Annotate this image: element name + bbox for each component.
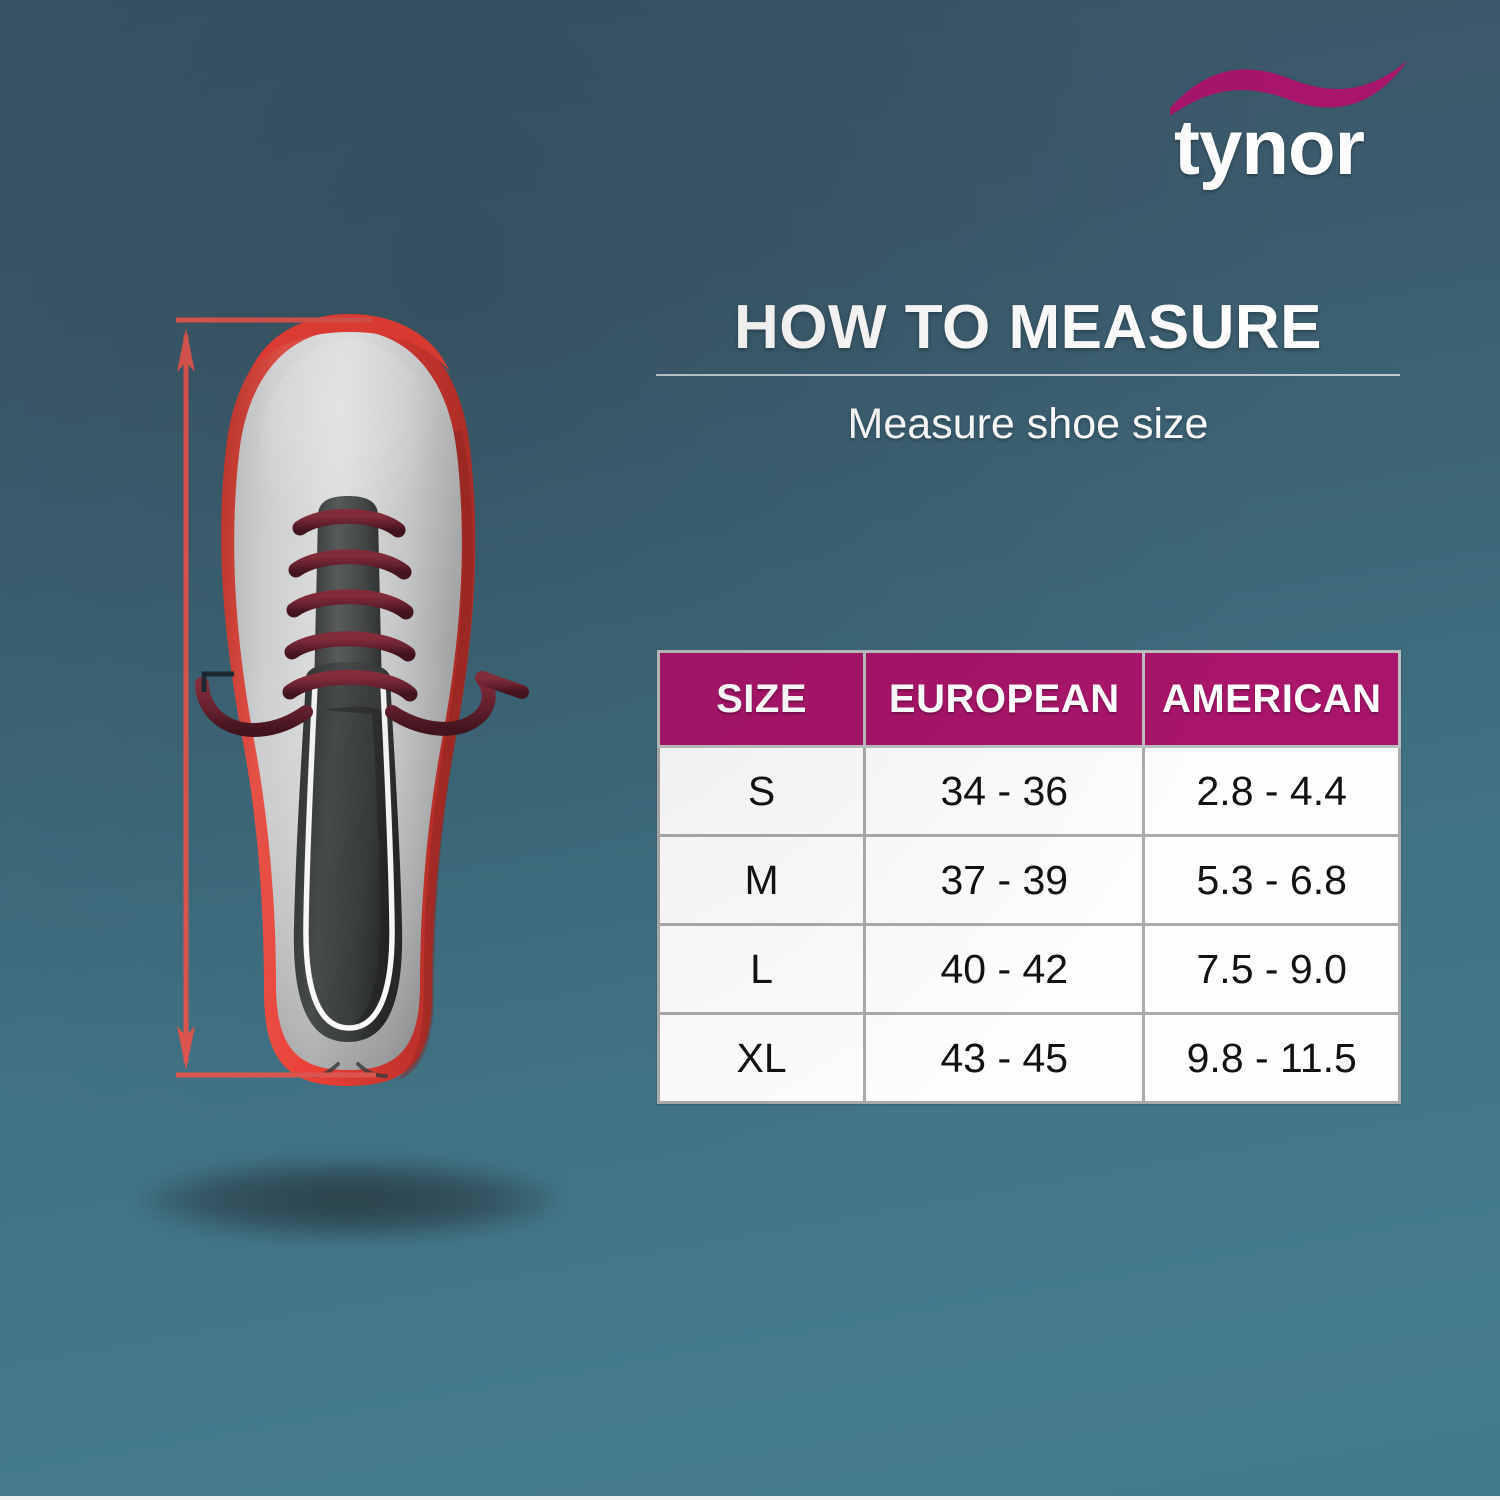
header-block: HOW TO MEASURE Measure shoe size bbox=[656, 296, 1400, 449]
cell-size: M bbox=[659, 836, 865, 925]
cell-size: S bbox=[659, 747, 865, 836]
cell-american: 9.8 - 11.5 bbox=[1144, 1014, 1400, 1103]
table-header-row: SIZE EUROPEAN AMERICAN bbox=[659, 652, 1400, 747]
cell-european: 40 - 42 bbox=[865, 925, 1144, 1014]
cell-size: L bbox=[659, 925, 865, 1014]
table-row: XL 43 - 45 9.8 - 11.5 bbox=[659, 1014, 1400, 1103]
table-row: M 37 - 39 5.3 - 6.8 bbox=[659, 836, 1400, 925]
cell-size: XL bbox=[659, 1014, 865, 1103]
page-subtitle: Measure shoe size bbox=[656, 400, 1400, 449]
column-header-size: SIZE bbox=[659, 652, 865, 747]
title-divider bbox=[656, 374, 1400, 376]
dimension-annotation bbox=[110, 280, 590, 1230]
cell-american: 5.3 - 6.8 bbox=[1144, 836, 1400, 925]
column-header-european: EUROPEAN bbox=[865, 652, 1144, 747]
page-bottom-edge bbox=[0, 1496, 1500, 1500]
measure-corner-mark bbox=[204, 674, 234, 692]
shoe-illustration bbox=[110, 280, 590, 1230]
cell-american: 7.5 - 9.0 bbox=[1144, 925, 1400, 1014]
size-chart-page: tynor HOW TO MEASURE Measure shoe size S… bbox=[0, 0, 1500, 1500]
cell-european: 37 - 39 bbox=[865, 836, 1144, 925]
table-row: L 40 - 42 7.5 - 9.0 bbox=[659, 925, 1400, 1014]
column-header-american: AMERICAN bbox=[1144, 652, 1400, 747]
table-row: S 34 - 36 2.8 - 4.4 bbox=[659, 747, 1400, 836]
size-chart-table: SIZE EUROPEAN AMERICAN S 34 - 36 2.8 - 4… bbox=[657, 650, 1401, 1104]
brand-wordmark: tynor bbox=[1174, 108, 1364, 186]
page-title: HOW TO MEASURE bbox=[656, 296, 1400, 360]
cell-european: 43 - 45 bbox=[865, 1014, 1144, 1103]
cell-european: 34 - 36 bbox=[865, 747, 1144, 836]
cell-american: 2.8 - 4.4 bbox=[1144, 747, 1400, 836]
brand-logo: tynor bbox=[1168, 56, 1412, 206]
size-chart-table-wrapper: SIZE EUROPEAN AMERICAN S 34 - 36 2.8 - 4… bbox=[657, 650, 1401, 1104]
